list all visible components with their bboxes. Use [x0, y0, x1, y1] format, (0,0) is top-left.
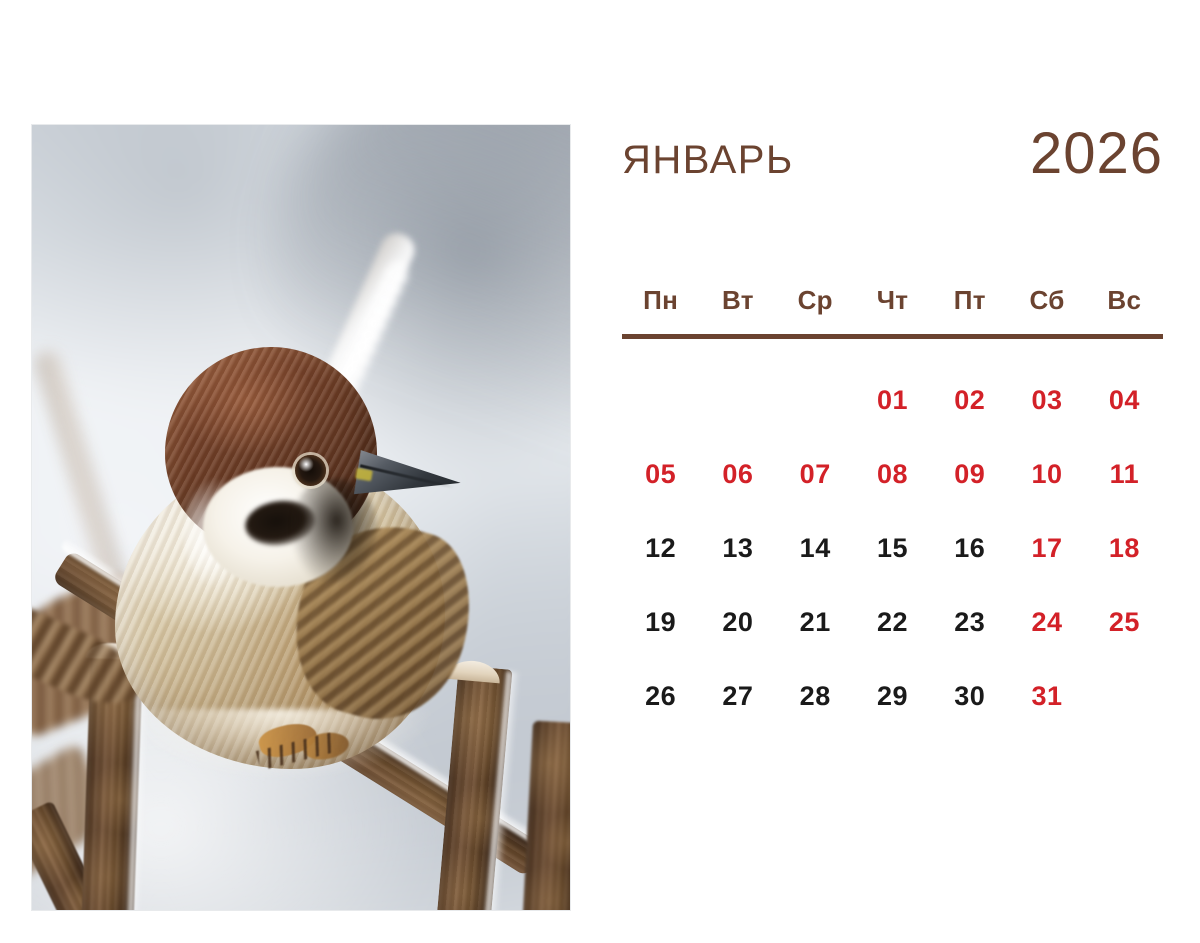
- calendar-header: ЯНВАРЬ 2026: [622, 125, 1163, 203]
- calendar-day-cell[interactable]: 20: [699, 607, 776, 638]
- weekday-label-wed: Ср: [777, 285, 854, 316]
- calendar-day-cell[interactable]: 04: [1086, 385, 1163, 416]
- calendar-day-cell[interactable]: 08: [854, 459, 931, 490]
- calendar-day-cell[interactable]: 21: [777, 607, 854, 638]
- calendar-day-cell[interactable]: 23: [931, 607, 1008, 638]
- calendar-day-cell[interactable]: 31: [1008, 681, 1085, 712]
- calendar-week-row: 01 02 03 04: [622, 363, 1163, 437]
- header-divider: [622, 334, 1163, 339]
- weekday-label-thu: Чт: [854, 285, 931, 316]
- calendar-day-cell[interactable]: 02: [931, 385, 1008, 416]
- calendar-day-cell[interactable]: 12: [622, 533, 699, 564]
- calendar-day-cell[interactable]: 09: [931, 459, 1008, 490]
- calendar-panel: ЯНВАРЬ 2026 Пн Вт Ср Чт Пт Сб Вс 01 02 0…: [622, 125, 1163, 733]
- calendar-day-cell[interactable]: 19: [622, 607, 699, 638]
- calendar-week-row: 19 20 21 22 23 24 25: [622, 585, 1163, 659]
- calendar-day-cell[interactable]: 18: [1086, 533, 1163, 564]
- calendar-day-cell[interactable]: 13: [699, 533, 776, 564]
- calendar-week-row: 12 13 14 15 16 17 18: [622, 511, 1163, 585]
- month-photo: [32, 125, 570, 910]
- calendar-day-cell[interactable]: 29: [854, 681, 931, 712]
- calendar-day-cell[interactable]: 30: [931, 681, 1008, 712]
- calendar-day-cell[interactable]: 07: [777, 459, 854, 490]
- weekday-label-sun: Вс: [1086, 285, 1163, 316]
- calendar-day-cell[interactable]: 14: [777, 533, 854, 564]
- month-title: ЯНВАРЬ: [622, 140, 794, 180]
- calendar-week-row: 05 06 07 08 09 10 11: [622, 437, 1163, 511]
- calendar-day-cell[interactable]: 05: [622, 459, 699, 490]
- calendar-day-cell[interactable]: 24: [1008, 607, 1085, 638]
- calendar-day-cell[interactable]: 27: [699, 681, 776, 712]
- calendar-day-cell[interactable]: 01: [854, 385, 931, 416]
- weekday-label-fri: Пт: [931, 285, 1008, 316]
- weekday-label-sat: Сб: [1008, 285, 1085, 316]
- calendar-day-cell[interactable]: 16: [931, 533, 1008, 564]
- weekday-label-tue: Вт: [699, 285, 776, 316]
- calendar-day-cell[interactable]: 06: [699, 459, 776, 490]
- calendar-day-cell[interactable]: 03: [1008, 385, 1085, 416]
- calendar-day-cell[interactable]: 11: [1086, 459, 1163, 490]
- weekday-header-row: Пн Вт Ср Чт Пт Сб Вс: [622, 285, 1163, 316]
- weekday-label-mon: Пн: [622, 285, 699, 316]
- calendar-day-cell[interactable]: 25: [1086, 607, 1163, 638]
- calendar-day-cell[interactable]: 28: [777, 681, 854, 712]
- calendar-day-cell[interactable]: 10: [1008, 459, 1085, 490]
- year-title: 2026: [1030, 125, 1163, 183]
- calendar-grid: 01 02 03 04 05 06 07 08 09 10 11 12 13 1…: [622, 363, 1163, 733]
- calendar-day-cell[interactable]: 26: [622, 681, 699, 712]
- calendar-page: ЯНВАРЬ 2026 Пн Вт Ср Чт Пт Сб Вс 01 02 0…: [0, 0, 1200, 943]
- sparrow-icon: [107, 329, 477, 779]
- calendar-day-cell[interactable]: 15: [854, 533, 931, 564]
- calendar-day-cell[interactable]: 17: [1008, 533, 1085, 564]
- calendar-day-cell[interactable]: 22: [854, 607, 931, 638]
- calendar-week-row: 26 27 28 29 30 31: [622, 659, 1163, 733]
- photo-stage: [32, 125, 570, 910]
